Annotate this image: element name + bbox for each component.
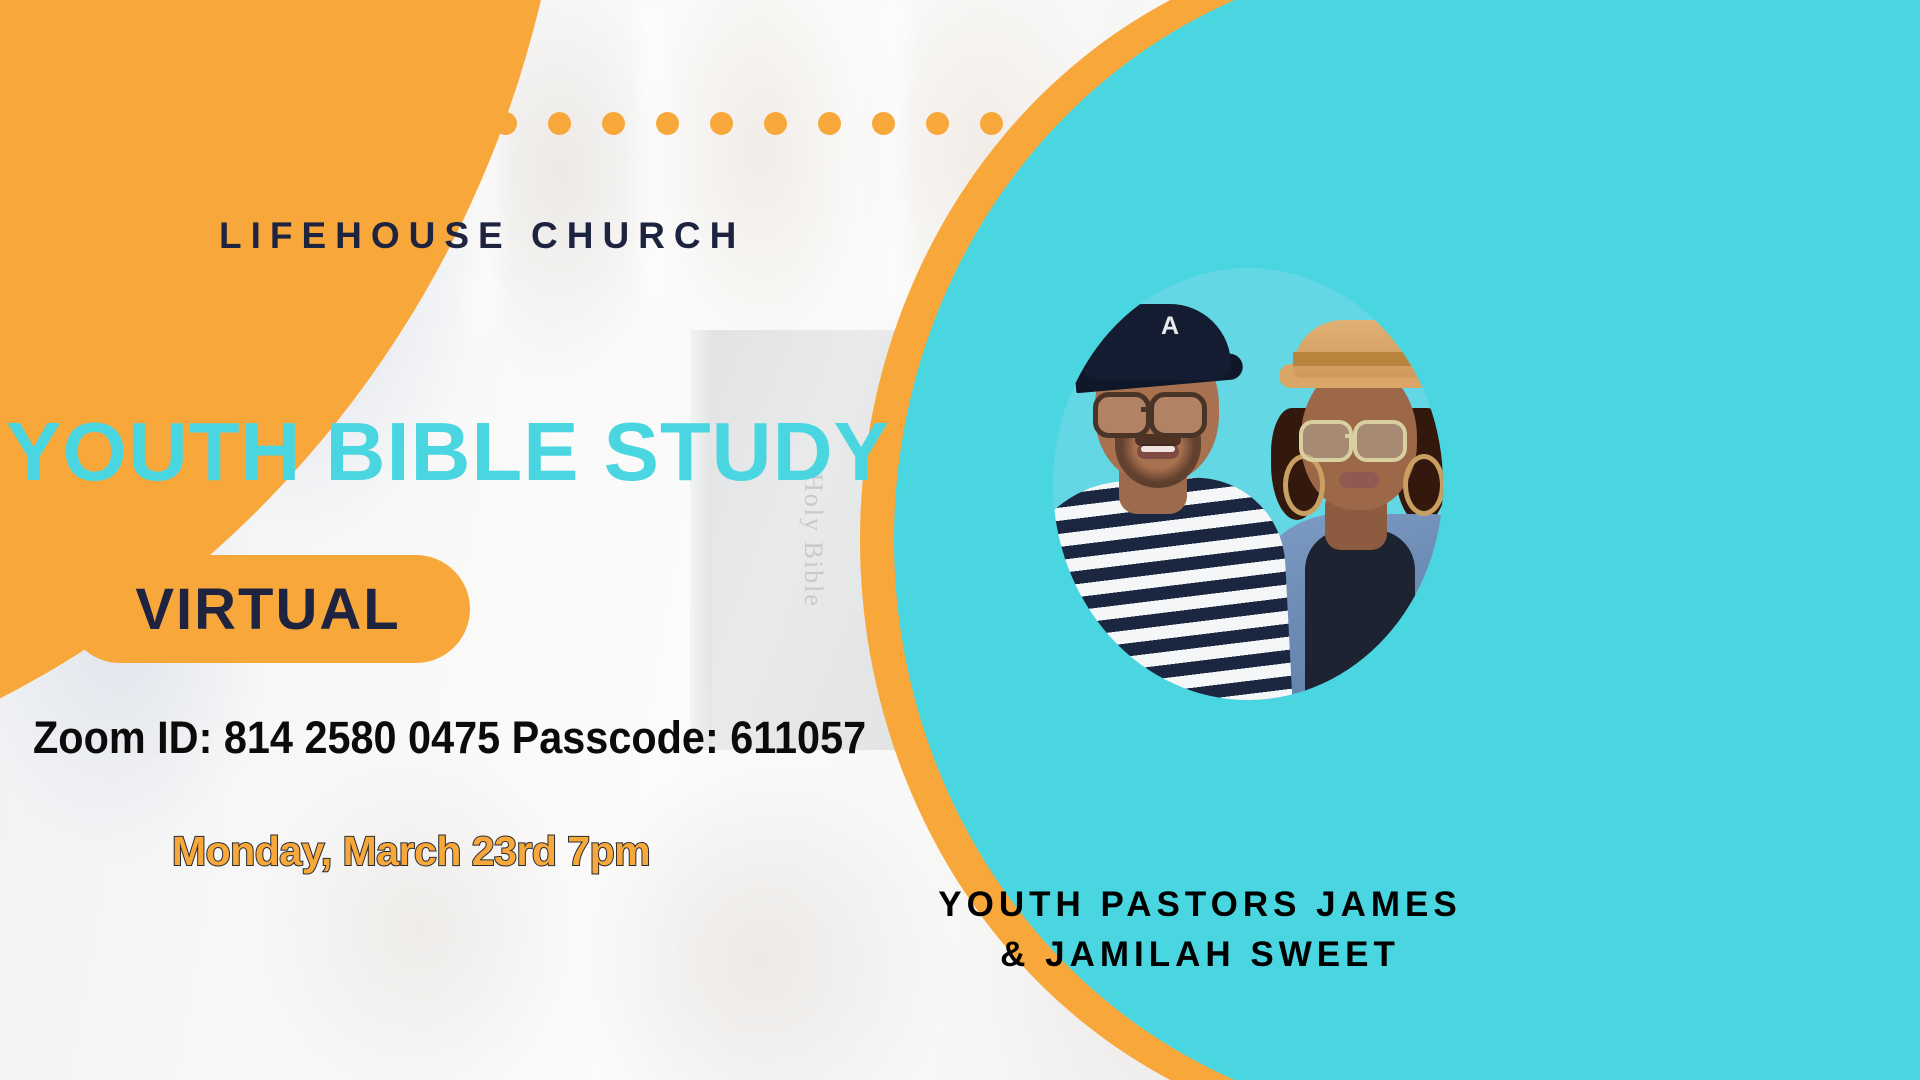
- virtual-badge: VIRTUAL: [66, 555, 470, 663]
- pastors-photo: A: [1053, 268, 1443, 700]
- woman-glasses-right-lens: [1353, 420, 1407, 462]
- event-title: YOUTH BIBLE STUDY: [6, 410, 890, 493]
- event-datetime: Monday, March 23rd 7pm: [172, 828, 650, 875]
- dot-icon: [656, 112, 679, 135]
- man-glasses-right-lens: [1149, 392, 1207, 438]
- woman-straw-hat: [1293, 320, 1429, 378]
- man-glasses-left-lens: [1093, 392, 1151, 438]
- man-glasses-bridge: [1141, 407, 1153, 412]
- virtual-badge-label: VIRTUAL: [135, 576, 400, 643]
- woman-lips: [1339, 472, 1379, 488]
- pastors-caption-line-2: & JAMILAH SWEET: [880, 930, 1520, 980]
- pastors-photo-inner: A: [1053, 268, 1443, 700]
- woman-hat-band: [1293, 352, 1429, 366]
- man-teeth: [1141, 446, 1175, 452]
- woman-glasses-bridge: [1345, 434, 1357, 438]
- dot-icon: [548, 112, 571, 135]
- pastors-caption-line-1: YOUTH PASTORS JAMES: [880, 880, 1520, 930]
- dot-icon: [602, 112, 625, 135]
- man-cap-logo-a: A: [1157, 312, 1183, 340]
- woman-top: [1305, 530, 1415, 700]
- dot-icon: [494, 112, 517, 135]
- dot-icon: [818, 112, 841, 135]
- flyer-canvas: Holy Bible: [0, 0, 1920, 1080]
- dot-icon: [440, 112, 463, 135]
- church-name: LIFEHOUSE CHURCH: [219, 215, 745, 257]
- woman-earring-left: [1283, 454, 1325, 516]
- woman-glasses-left-lens: [1299, 420, 1353, 462]
- dot-icon: [710, 112, 733, 135]
- pastors-caption: YOUTH PASTORS JAMES & JAMILAH SWEET: [880, 880, 1520, 979]
- zoom-credentials: Zoom ID: 814 2580 0475 Passcode: 611057: [33, 712, 866, 764]
- dot-icon: [764, 112, 787, 135]
- woman-earring-right: [1403, 454, 1443, 516]
- background-bible-spine: [690, 330, 712, 750]
